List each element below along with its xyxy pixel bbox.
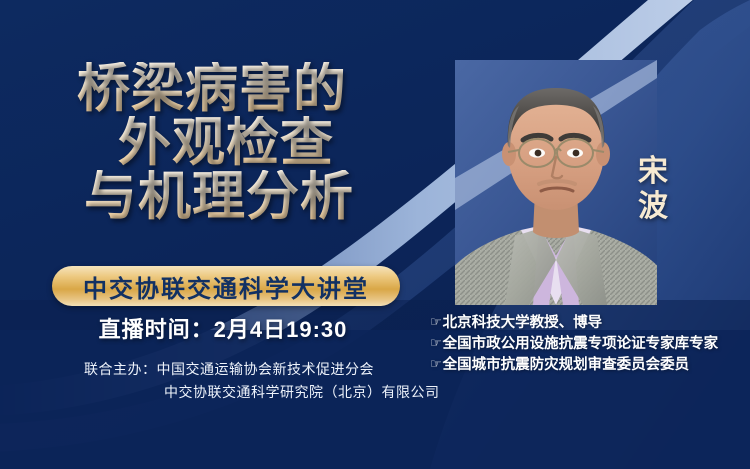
poster-headline: 桥梁病害的 外观检查 与机理分析 (0, 62, 430, 224)
headline-line-2: 外观检查 (22, 116, 430, 170)
speaker-photo (455, 60, 657, 305)
organizers-block: 联合主办：中国交通运输协会新技术促进分会 中交协联交通科学研究院（北京）有限公司 (84, 358, 454, 404)
credential-item: ☞ 全国城市抗震防灾规划审查委员会委员 (430, 355, 748, 376)
webinar-poster: 桥梁病害的 外观检查 与机理分析 中交协联交通科学大讲堂 直播时间：2月4日19… (0, 0, 750, 469)
organizer-line-1: 联合主办：中国交通运输协会新技术促进分会 (84, 358, 454, 381)
series-banner: 中交协联交通科学大讲堂 (52, 266, 400, 306)
speaker-name-char-1: 宋 (630, 155, 676, 190)
series-banner-label: 中交协联交通科学大讲堂 (83, 269, 369, 304)
credential-text: 全国城市抗震防灾规划审查委员会委员 (443, 355, 690, 376)
headline-line-3: 与机理分析 (8, 170, 430, 224)
credential-item: ☞ 全国市政公用设施抗震专项论证专家库专家 (430, 334, 748, 355)
live-time: 直播时间：2月4日19:30 (0, 312, 446, 344)
credential-text: 全国市政公用设施抗震专项论证专家库专家 (443, 334, 719, 355)
credential-item: ☞ 北京科技大学教授、博导 (430, 313, 748, 334)
speaker-name-char-2: 波 (630, 190, 676, 225)
pointing-hand-icon: ☞ (430, 355, 442, 374)
organizer-line-2: 中交协联交通科学研究院（北京）有限公司 (84, 381, 454, 404)
speaker-name: 宋 波 (630, 155, 676, 224)
pointing-hand-icon: ☞ (430, 313, 442, 332)
speaker-credentials: ☞ 北京科技大学教授、博导 ☞ 全国市政公用设施抗震专项论证专家库专家 ☞ 全国… (430, 313, 748, 376)
pointing-hand-icon: ☞ (430, 334, 442, 353)
headline-line-1: 桥梁病害的 (0, 62, 430, 116)
credential-text: 北京科技大学教授、博导 (443, 313, 603, 334)
